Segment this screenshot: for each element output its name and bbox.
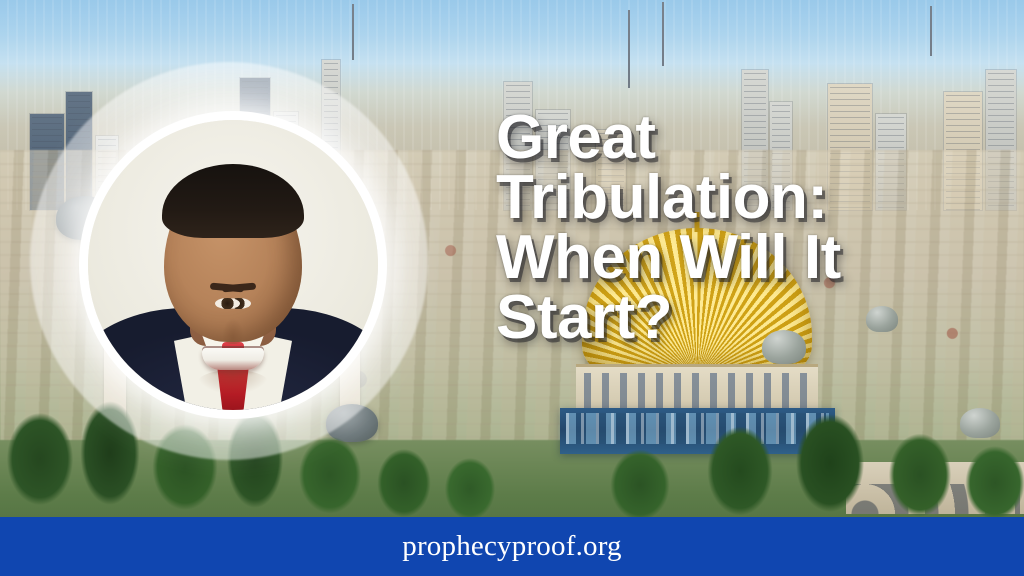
headline-line-1: Great [496,108,966,168]
headline: Great Tribulation: When Will It Start? [496,108,966,349]
headline-line-2: Tribulation: [496,168,966,228]
antenna-mast [628,10,630,88]
headline-line-3: When Will It [496,228,966,288]
avatar-chin [198,370,268,394]
thumbnail-canvas: Great Tribulation: When Will It Start? p… [0,0,1024,576]
antenna-mast [930,6,932,56]
antenna-mast [352,4,354,60]
headline-line-4: Start? [496,288,966,348]
footer-bar: prophecyproof.org [0,517,1024,576]
avatar [88,120,378,410]
site-url[interactable]: prophecyproof.org [402,530,622,563]
avatar-smile [202,348,264,370]
avatar-eye-right [215,298,240,309]
antenna-mast [662,2,664,66]
avatar-nose [222,318,244,344]
